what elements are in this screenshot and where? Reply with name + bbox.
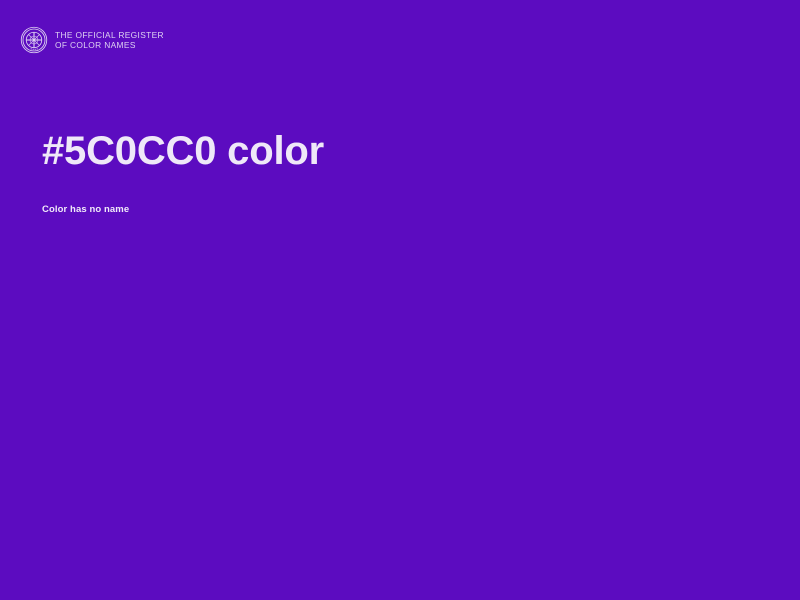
color-page: THE OFFICIAL REGISTER OF COLOR NAMES #5C… (0, 0, 800, 600)
brand-title-line-1: THE OFFICIAL REGISTER (55, 30, 164, 40)
brand-title: THE OFFICIAL REGISTER OF COLOR NAMES (55, 30, 164, 50)
brand-lockup[interactable]: THE OFFICIAL REGISTER OF COLOR NAMES (20, 26, 164, 54)
color-swatch-background (0, 0, 800, 600)
page-title: #5C0CC0 color (42, 128, 742, 174)
brand-title-line-2: OF COLOR NAMES (55, 40, 164, 50)
color-info: #5C0CC0 color Color has no name (42, 128, 742, 216)
color-name-status: Color has no name (42, 174, 742, 216)
register-seal-icon (20, 26, 48, 54)
